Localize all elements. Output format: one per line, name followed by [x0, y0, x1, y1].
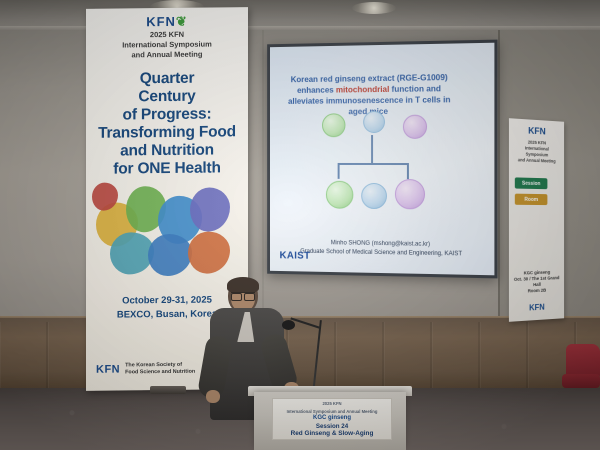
- figure-cell: [361, 183, 387, 209]
- figure-arrow: [407, 163, 409, 179]
- banner-logo-text: KFN: [146, 14, 176, 29]
- podium-header: 2025 KFN: [273, 401, 391, 407]
- wall-sign-footer: KGC ginseng Oct. 30 / The 1st Grand Hall…: [512, 269, 561, 295]
- banner-title-line: of Progress:: [94, 105, 240, 125]
- banner-subtitle-line: and Annual Meeting: [86, 49, 248, 61]
- banner-footer-logo: KFN: [96, 363, 120, 375]
- banner-title-line: Transforming Food: [94, 123, 240, 143]
- banner-stand-base: [150, 386, 186, 394]
- banner-title-line: Quarter: [94, 69, 240, 89]
- banner-footer-org-line: Food Science and Nutrition: [125, 369, 195, 377]
- wall-sign-footer-line: Room 2B: [512, 287, 561, 295]
- banner-artwork: [92, 175, 242, 281]
- leaf-icon: ❦: [176, 14, 188, 29]
- banner-title-line: Century: [94, 87, 240, 107]
- figure-arrow: [338, 163, 339, 179]
- chair-seat: [562, 374, 600, 388]
- slide-figure: [312, 108, 445, 231]
- speaker-left-hand: [206, 390, 220, 403]
- wall-seam: [498, 30, 500, 320]
- wall-sign: KFN 2025 KFN International Symposium and…: [509, 118, 564, 322]
- banner-title: Quarter Century of Progress: Transformin…: [94, 69, 240, 179]
- banner-subtitle: 2025 KFN International Symposium and Ann…: [86, 29, 248, 61]
- figure-arrow: [338, 163, 407, 165]
- eyeglasses-icon: [231, 292, 255, 300]
- wall-sign-badge: Room: [515, 194, 548, 205]
- presentation-slide: Korean red ginseng extract (RGE-G1009) e…: [270, 43, 494, 276]
- wall-sign-logo: KFN: [509, 124, 564, 137]
- kaist-logo: KAIST: [280, 250, 311, 261]
- podium-session-title: Red Ginseng & Slow-Aging: [273, 430, 391, 437]
- banner-title-line: and Nutrition: [94, 141, 240, 161]
- figure-cell: [322, 113, 345, 137]
- conference-photo: KFN❦ 2025 KFN International Symposium an…: [0, 0, 600, 450]
- wall-seam: [262, 30, 264, 320]
- banner-footer-org: The Korean Society of Food Science and N…: [125, 362, 195, 377]
- wall-sign-badge: Session: [515, 177, 548, 189]
- wall-sign-text: 2025 KFN International Symposium and Ann…: [513, 139, 561, 165]
- banner-logo: KFN❦: [86, 13, 248, 31]
- figure-cell: [395, 179, 425, 209]
- figure-cell: [403, 115, 427, 139]
- microphone-icon: [282, 320, 295, 330]
- chair-backrest: [566, 344, 600, 378]
- speaker-hair: [227, 277, 259, 293]
- wall-sign-bottom-logo: KFN: [509, 302, 564, 314]
- podium-sign: 2025 KFN International Symposium and Ann…: [272, 398, 392, 440]
- figure-cell: [363, 111, 385, 133]
- slide-title-highlight: mitochondrial: [336, 85, 389, 95]
- podium-sponsor-logo: KGC ginseng: [273, 415, 391, 421]
- figure-arrow: [371, 135, 372, 163]
- figure-cell: [326, 181, 353, 209]
- wall-sign-text-line: and Annual Meeting: [513, 157, 561, 165]
- ceiling-light: [352, 2, 396, 14]
- podium-session-label: Session 24: [273, 423, 391, 430]
- projection-screen: Korean red ginseng extract (RGE-G1009) e…: [267, 40, 497, 279]
